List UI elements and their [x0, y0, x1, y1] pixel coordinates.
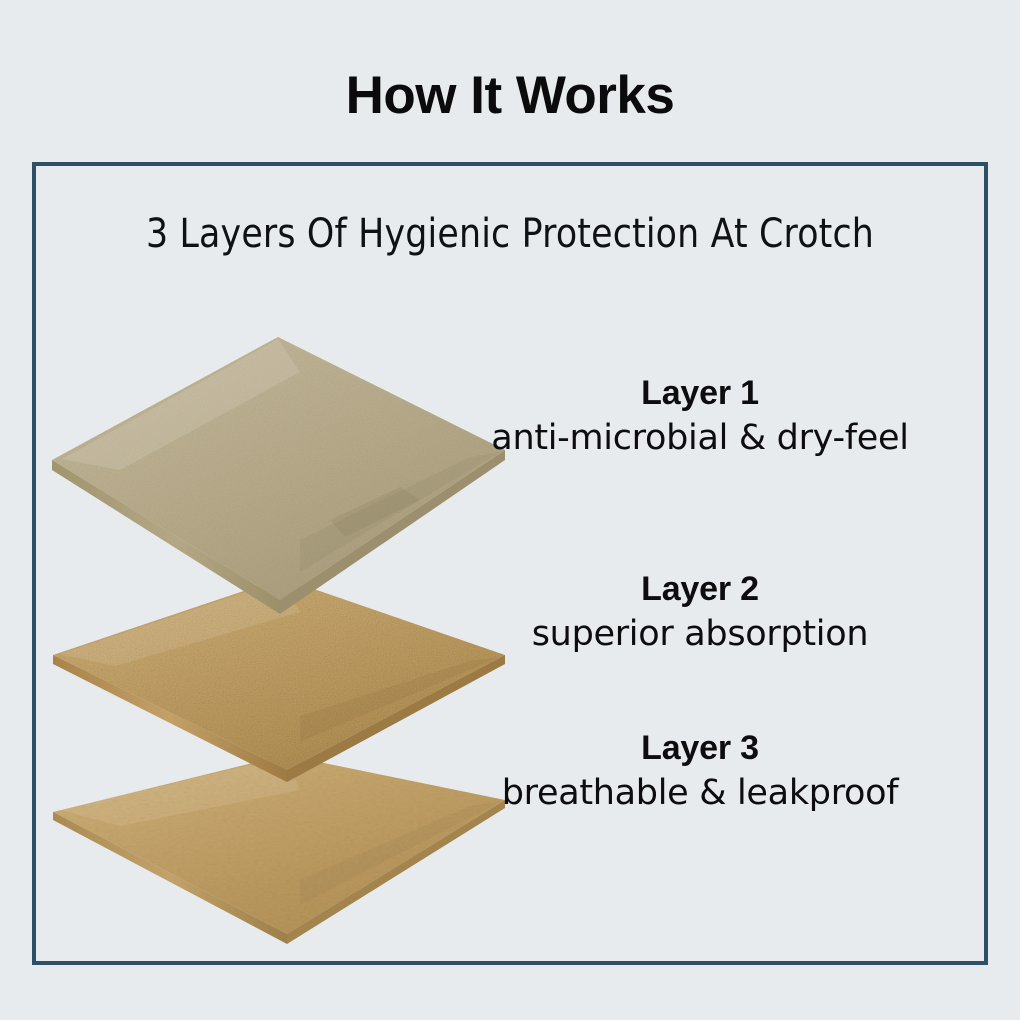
page-title: How It Works [0, 68, 1020, 124]
layer-1-label: Layer 1 [390, 374, 1010, 413]
layer-1-description: anti-microbial & dry-feel [390, 417, 1010, 459]
subtitle: 3 Layers Of Hygienic Protection At Crotc… [66, 211, 953, 257]
layer-2-label: Layer 2 [390, 570, 1010, 609]
layer-3-caption: Layer 3 breathable & leakproof [390, 729, 1010, 814]
layer-3-label: Layer 3 [390, 729, 1010, 768]
how-it-works-infographic: How It Works 3 Layers Of Hygienic Protec… [0, 0, 1020, 1020]
layer-1-caption: Layer 1 anti-microbial & dry-feel [390, 374, 1010, 459]
layer-2-description: superior absorption [390, 613, 1010, 655]
layer-2-caption: Layer 2 superior absorption [390, 570, 1010, 655]
layer-3-description: breathable & leakproof [390, 772, 1010, 814]
content-frame [32, 162, 988, 965]
